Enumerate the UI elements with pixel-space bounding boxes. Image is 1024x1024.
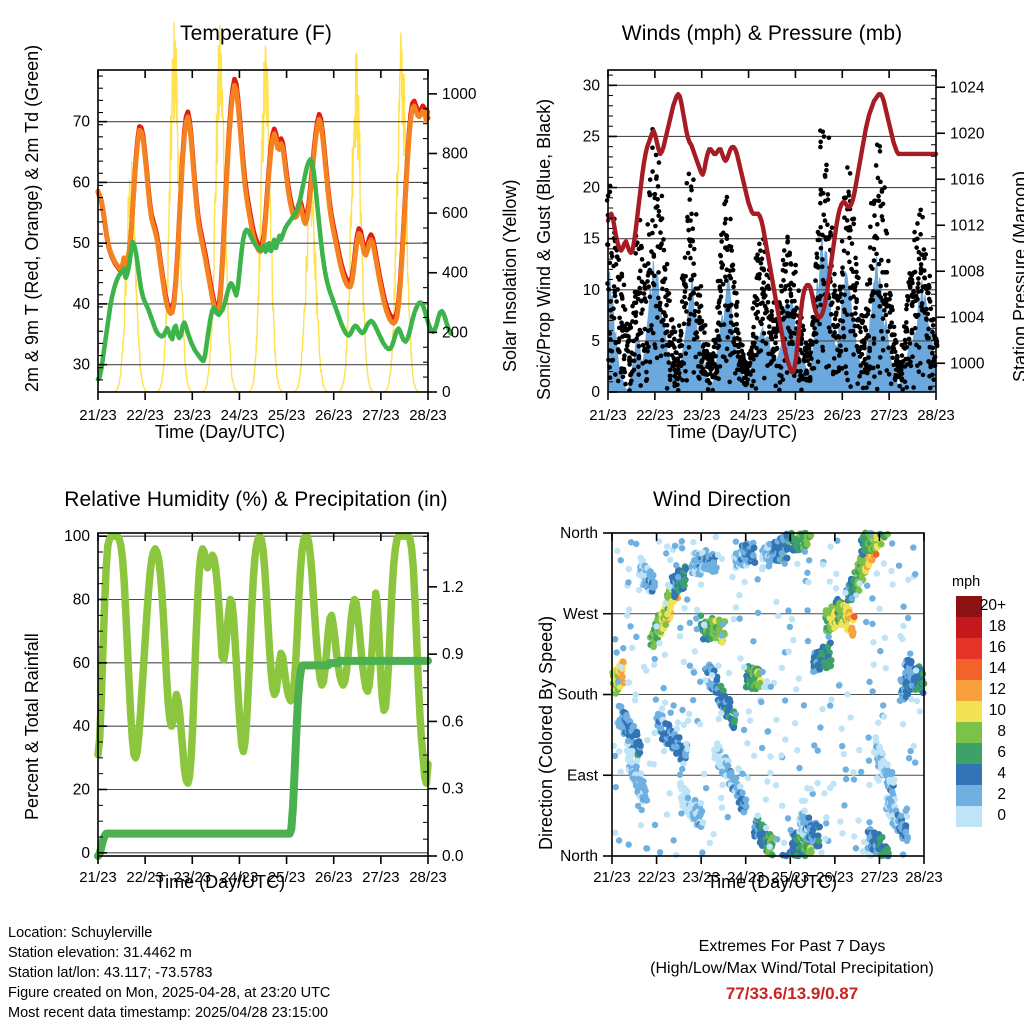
ytick-label-right: 800 (442, 145, 468, 162)
wind-direction-point (871, 661, 877, 667)
ytick-label-left: 30 (583, 77, 601, 94)
wind-direction-point (681, 605, 687, 611)
wind-direction-point (782, 736, 788, 742)
wind-direction-point (618, 664, 624, 670)
gust-point (881, 316, 886, 321)
gust-point (761, 280, 766, 285)
wind-direction-point (697, 721, 703, 727)
wind-direction-point (691, 669, 697, 675)
gust-point (840, 265, 845, 270)
wind-direction-point (755, 610, 761, 616)
gust-point (755, 297, 760, 302)
panel-humidity: Relative Humidity (%) & Precipitation (i… (0, 460, 512, 900)
gust-point (789, 291, 794, 296)
wind-direction-point (871, 749, 877, 755)
gust-point (793, 308, 798, 313)
gust-point (895, 355, 900, 360)
gust-point (735, 336, 740, 341)
wind-direction-point (636, 776, 642, 782)
gust-point (750, 383, 755, 388)
wind-direction-point (847, 714, 853, 720)
gust-point (646, 261, 651, 266)
wind-direction-point (660, 685, 666, 691)
gust-point (687, 172, 692, 177)
ytick-label-left: 60 (73, 655, 91, 672)
gust-point (721, 263, 726, 268)
gust-point (632, 358, 637, 363)
gust-point (889, 320, 894, 325)
wind-direction-point (904, 838, 910, 844)
wind-direction-point (685, 795, 691, 801)
wind-direction-point (679, 545, 685, 551)
gust-point (690, 226, 695, 231)
gust-point (792, 283, 797, 288)
gust-point (884, 228, 889, 233)
wind-direction-point (627, 623, 633, 629)
wind-direction-point (726, 670, 732, 676)
gust-point (616, 349, 621, 354)
gust-point (890, 308, 895, 313)
wind-direction-point (877, 648, 883, 654)
gust-point (814, 331, 819, 336)
gust-point (626, 334, 631, 339)
gust-point (888, 291, 893, 296)
gust-point (847, 236, 852, 241)
gust-point (735, 300, 740, 305)
gust-point (755, 257, 760, 262)
wind-direction-point (914, 698, 920, 704)
wind-direction-point (638, 770, 644, 776)
wind-direction-point (790, 637, 796, 643)
gust-point (682, 295, 687, 300)
gust-point (703, 323, 708, 328)
gust-point (755, 252, 760, 257)
gust-point (842, 293, 847, 298)
wind-direction-point (896, 562, 902, 568)
gust-point (767, 287, 772, 292)
wind-direction-point (759, 669, 765, 675)
wind-direction-point (866, 679, 872, 685)
wind-direction-point (733, 711, 739, 717)
wind-direction-point (774, 836, 780, 842)
gust-point (785, 240, 790, 245)
wind-direction-point (684, 788, 691, 795)
gust-point (617, 316, 622, 321)
gust-point (678, 333, 683, 338)
gust-point (818, 225, 823, 230)
wind-direction-point (681, 659, 687, 665)
gust-point (813, 278, 818, 283)
gust-point (868, 277, 873, 282)
gust-point (689, 277, 694, 282)
gust-point (754, 386, 759, 391)
gust-point (683, 255, 688, 260)
wind-direction-point (793, 686, 799, 692)
gust-point (914, 245, 919, 250)
gust-point (878, 180, 883, 185)
wind-direction-point (863, 619, 869, 625)
gust-point (665, 262, 670, 267)
gust-point (871, 298, 876, 303)
gust-point (614, 262, 619, 267)
gust-point (758, 248, 763, 253)
wind-direction-point (870, 639, 876, 645)
wind-direction-point (905, 615, 911, 621)
wind-direction-point (900, 721, 906, 727)
gust-point (610, 254, 615, 259)
wind-direction-point (804, 570, 810, 576)
gust-point (689, 184, 694, 189)
gust-point (699, 320, 704, 325)
gust-point (829, 312, 834, 317)
gust-point (872, 374, 877, 379)
gust-point (875, 222, 880, 227)
gust-point (687, 296, 692, 301)
wind-direction-point (715, 663, 721, 669)
wind-direction-point (796, 765, 802, 771)
gust-point (716, 376, 721, 381)
wind-direction-point (735, 765, 741, 771)
wind-direction-point (799, 798, 805, 804)
wind-direction-plot[interactable]: NorthWestSouthEastNorth21/2322/2323/2324… (512, 460, 1024, 900)
wind-direction-point (679, 766, 685, 772)
wind-direction-point (751, 544, 758, 551)
gust-point (734, 313, 739, 318)
gust-point (745, 381, 750, 386)
gust-point (694, 212, 699, 217)
wind-direction-point (884, 531, 891, 538)
gust-point (764, 309, 769, 314)
gust-point (845, 378, 850, 383)
colorbar-tick-label: 6 (997, 744, 1006, 761)
gust-point (651, 331, 656, 336)
ytick-label-left: 15 (583, 231, 600, 248)
wind-direction-point (820, 561, 826, 567)
ytick-label-right: 0.3 (442, 781, 464, 798)
gust-point (872, 247, 877, 252)
wind-direction-point (643, 667, 649, 673)
gust-point (775, 346, 780, 351)
gust-point (844, 347, 849, 352)
wind-direction-point (751, 752, 757, 758)
wind-direction-point (741, 664, 747, 670)
wind-direction-point (684, 596, 690, 602)
gust-point (623, 307, 628, 312)
gust-point (670, 317, 675, 322)
gust-point (644, 359, 649, 364)
gust-point (715, 328, 720, 333)
gust-point (832, 356, 837, 361)
wind-direction-point (672, 543, 678, 549)
gust-point (920, 215, 925, 220)
gust-point (881, 202, 886, 207)
gust-point (878, 149, 883, 154)
wind-direction-point (805, 579, 811, 585)
wind-direction-point (843, 776, 849, 782)
wind-direction-point (913, 667, 919, 673)
wind-direction-xlabel: Time (Day/UTC) (592, 872, 952, 893)
wind-direction-point (680, 760, 686, 766)
gust-point (886, 346, 891, 351)
gust-point (637, 276, 642, 281)
gust-point (630, 369, 635, 374)
gust-point (719, 239, 724, 244)
wind-direction-point (625, 738, 631, 744)
gust-point (850, 241, 855, 246)
wind-direction-point (662, 652, 668, 658)
gust-point (821, 191, 826, 196)
wind-direction-point (642, 788, 649, 795)
wind-direction-point (737, 783, 744, 790)
footer-created: Figure created on Mon, 2025-04-28, at 23… (8, 985, 330, 1001)
gust-point (637, 286, 642, 291)
gust-point (694, 301, 699, 306)
wind-direction-point (692, 648, 698, 654)
gust-point (687, 318, 692, 323)
wind-direction-point (682, 565, 689, 572)
gust-point (659, 319, 664, 324)
wind-direction-point (883, 665, 889, 671)
gust-point (650, 169, 655, 174)
wind-direction-point (866, 819, 872, 825)
wind-direction-point (904, 813, 910, 819)
ytick-label-right: 1000 (442, 86, 477, 103)
gust-point (797, 378, 802, 383)
wind-direction-point (866, 782, 872, 788)
ytick-label-right: 0 (442, 384, 451, 401)
wind-direction-point (651, 730, 657, 736)
wind-direction-point (850, 769, 856, 775)
footer-location: Location: Schuylerville (8, 925, 152, 941)
gust-point (855, 281, 860, 286)
gust-point (706, 343, 711, 348)
footer-timestamp: Most recent data timestamp: 2025/04/28 2… (8, 1005, 328, 1021)
footer-elevation: Station elevation: 31.4462 m (8, 945, 192, 961)
gust-point (741, 355, 746, 360)
gust-point (646, 344, 651, 349)
gust-point (688, 218, 693, 223)
wind-direction-point (788, 827, 794, 833)
wind-direction-point (882, 635, 888, 641)
colorbar-band (956, 764, 982, 785)
gust-point (612, 316, 617, 321)
gust-point (827, 136, 832, 141)
wind-direction-point (765, 558, 771, 564)
gust-point (616, 379, 621, 384)
gust-point (847, 260, 852, 265)
ytick-label-left: 10 (583, 282, 601, 299)
humidity-title: Relative Humidity (%) & Precipitation (i… (0, 488, 512, 512)
gust-point (783, 287, 788, 292)
gust-point (719, 233, 724, 238)
gust-point (723, 275, 728, 280)
wind-direction-point (851, 614, 858, 621)
gust-point (848, 228, 853, 233)
gust-point (840, 270, 845, 275)
wind-direction-point (727, 699, 734, 706)
gust-point (724, 278, 729, 283)
wind-direction-point (789, 616, 795, 622)
wind-direction-point (733, 538, 739, 544)
ytick-label-right: 0.6 (442, 713, 464, 730)
gust-point (844, 371, 849, 376)
wind-direction-point (719, 804, 725, 810)
ytick-label-right: 1004 (950, 309, 985, 326)
colorbar-tick-label: 16 (989, 639, 1006, 656)
wind-direction-point (839, 830, 845, 836)
wind-direction-point (718, 795, 724, 801)
colorbar-band (956, 701, 982, 722)
gust-point (707, 381, 712, 386)
gust-point (919, 262, 924, 267)
gust-point (858, 330, 863, 335)
gust-point (748, 361, 753, 366)
gust-point (853, 311, 858, 316)
gust-point (874, 252, 879, 257)
colorbar-band (956, 638, 982, 659)
temperature-plot[interactable]: 30405060700200400600800100021/2322/2323/… (0, 0, 512, 460)
wind-direction-point (817, 724, 823, 730)
wind-direction-point (888, 568, 894, 574)
wind-direction-point (678, 810, 684, 816)
gust-point (915, 297, 920, 302)
gust-point (801, 328, 806, 333)
wind-direction-point (815, 780, 821, 786)
gust-point (746, 370, 751, 375)
wind-direction-point (643, 797, 650, 804)
wind-direction-point (741, 727, 747, 733)
wind-direction-point (686, 711, 692, 717)
gust-point (926, 336, 931, 341)
wind-direction-point (815, 837, 822, 844)
wind-direction-point (804, 541, 811, 548)
gust-point (757, 276, 762, 281)
wind-direction-point (765, 728, 771, 734)
wind-direction-point (747, 717, 753, 723)
gust-point (826, 192, 831, 197)
wind-direction-point (673, 562, 679, 568)
wind-direction-point (827, 785, 833, 791)
gust-point (893, 349, 898, 354)
wind-direction-point (675, 574, 681, 580)
gust-point (925, 312, 930, 317)
wind-direction-point (819, 706, 825, 712)
gust-point (677, 323, 682, 328)
gust-point (917, 345, 922, 350)
gust-point (905, 303, 910, 308)
wind-direction-point (684, 746, 690, 752)
wind-direction-point (651, 662, 657, 668)
wind-direction-point (613, 784, 619, 790)
gust-point (910, 277, 915, 282)
wind-direction-point (662, 600, 668, 606)
wind-direction-point (836, 682, 842, 688)
ytick-label-left: 20 (73, 782, 91, 799)
gust-point (832, 272, 837, 277)
gust-point (613, 372, 618, 377)
wind-direction-point (733, 775, 739, 781)
wind-direction-point (802, 549, 808, 555)
humidity-plot[interactable]: 0204060801000.00.30.60.91.221/2322/2323/… (0, 460, 512, 900)
gust-point (910, 331, 915, 336)
gust-point (762, 331, 767, 336)
gust-point (616, 257, 621, 262)
wind-direction-point (657, 849, 663, 855)
gust-point (840, 239, 845, 244)
wind-direction-point (687, 620, 693, 626)
gust-point (852, 217, 857, 222)
gust-point (798, 369, 803, 374)
ytick-label-right: 0.9 (442, 646, 464, 663)
gust-point (755, 316, 760, 321)
wind-direction-point (849, 595, 855, 601)
gust-point (851, 352, 856, 357)
wind-direction-point (719, 639, 726, 646)
gust-point (684, 181, 689, 186)
gust-point (862, 346, 867, 351)
wind-direction-point (718, 632, 724, 638)
winds-plot[interactable]: 0510152025301000100410081012101610201024… (512, 0, 1024, 460)
wind-direction-point (699, 549, 705, 555)
gust-point (699, 284, 704, 289)
wind-direction-point (881, 713, 887, 719)
ytick-label-right: 400 (442, 265, 468, 282)
wind-direction-point (869, 595, 875, 601)
extremes-heading: Extremes For Past 7 Days (592, 938, 992, 956)
gust-point (872, 213, 877, 218)
gust-point (655, 356, 660, 361)
gust-point (760, 317, 765, 322)
wind-direction-point (648, 573, 654, 579)
gust-point (695, 335, 700, 340)
gust-point (636, 372, 641, 377)
gust-point (759, 261, 764, 266)
wind-direction-point (731, 616, 737, 622)
gust-point (922, 268, 927, 273)
wind-direction-point (879, 749, 886, 756)
wind-direction-point (634, 731, 641, 738)
ytick-label-right: 1008 (950, 263, 984, 280)
gust-point (673, 330, 678, 335)
gust-point (854, 262, 859, 267)
gust-point (830, 225, 835, 230)
wind-direction-point (661, 748, 667, 754)
gust-point (632, 352, 637, 357)
wind-direction-point (694, 626, 700, 632)
wind-direction-point (900, 851, 906, 857)
gust-point (841, 326, 846, 331)
gust-point (872, 336, 877, 341)
gust-point (649, 323, 654, 328)
gust-point (817, 322, 822, 327)
wind-direction-point (713, 677, 720, 684)
wind-direction-point (625, 841, 631, 847)
gust-point (825, 222, 830, 227)
ytick-label-right: 1012 (950, 217, 984, 234)
gust-point (866, 308, 871, 313)
gust-point (916, 313, 921, 318)
wind-direction-point (618, 557, 624, 563)
gust-point (660, 216, 665, 221)
gust-point (648, 295, 653, 300)
gust-point (892, 325, 897, 330)
gust-point (913, 270, 918, 275)
gust-point (835, 334, 840, 339)
wind-direction-point (677, 633, 683, 639)
gust-point (716, 304, 721, 309)
wind-direction-point (634, 757, 640, 763)
gust-point (910, 354, 915, 359)
